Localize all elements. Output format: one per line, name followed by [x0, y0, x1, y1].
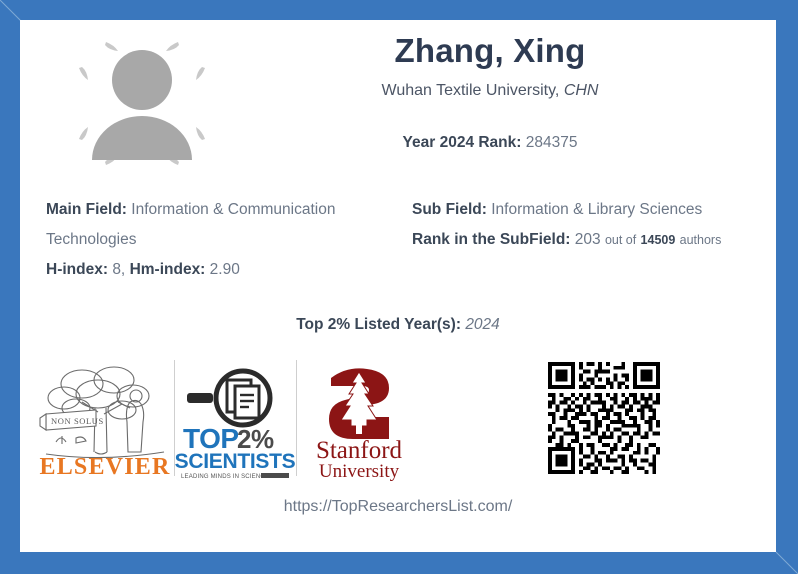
- index-row: H-index: 8, Hm-index: 2.90: [46, 255, 396, 285]
- hm-index-value: 2.90: [210, 261, 240, 278]
- affiliation-institution: Wuhan Textile University,: [382, 82, 560, 99]
- elsevier-wordmark: ELSEVIER: [40, 454, 171, 480]
- details-section: Main Field: Information & Communication …: [20, 195, 776, 330]
- site-url[interactable]: https://TopResearchersList.com/: [20, 498, 776, 516]
- details-left-column: Main Field: Information & Communication …: [46, 195, 396, 285]
- year-rank: Year 2024 Rank: 284375: [210, 132, 770, 154]
- top2-tagline: LEADING MINDS IN SCIENCE: [181, 474, 269, 480]
- subfield-rank-row: Rank in the SubField: 203 out of 14509 a…: [412, 225, 762, 255]
- elsevier-logo: NON SOLUS ELSEVIER: [38, 356, 173, 481]
- subfield-rank-total: 14509: [641, 233, 676, 247]
- stanford-wordmark-line2: University: [319, 461, 400, 481]
- h-index-label: H-index:: [46, 261, 108, 278]
- profile-card-frame: Zhang, Xing Wuhan Textile University, CH…: [0, 0, 798, 574]
- top-2-percent-label: Top 2% Listed Year(s):: [296, 316, 461, 333]
- logo-strip: NON SOLUS ELSEVIER: [38, 356, 778, 481]
- subfield-rank-suffix: authors: [680, 233, 722, 247]
- author-name: Zhang, Xing: [210, 28, 770, 74]
- author-identity: Zhang, Xing Wuhan Textile University, CH…: [210, 28, 770, 154]
- top2-word-scientists: SCIENTISTS: [175, 450, 295, 473]
- hm-index-label: Hm-index:: [130, 261, 206, 278]
- year-rank-label: Year 2024 Rank:: [403, 134, 522, 151]
- qr-code[interactable]: [548, 362, 660, 474]
- sub-field-value: Information & Library Sciences: [491, 201, 702, 218]
- subfield-rank-value: 203: [575, 231, 601, 248]
- top-2-percent-scientists-logo: TOP 2% SCIENTISTS LEADING MINDS IN SCIEN…: [175, 356, 295, 481]
- card-header: Zhang, Xing Wuhan Textile University, CH…: [20, 20, 776, 180]
- top-2-percent-years-row: Top 2% Listed Year(s): 2024: [20, 316, 776, 334]
- profile-card: Zhang, Xing Wuhan Textile University, CH…: [20, 20, 776, 552]
- year-rank-value: 284375: [526, 134, 578, 151]
- subfield-rank-label: Rank in the SubField:: [412, 231, 570, 248]
- top-2-percent-years: 2024: [465, 316, 499, 333]
- details-right-column: Sub Field: Information & Library Science…: [412, 195, 762, 255]
- stanford-university-logo: Stanford University: [297, 356, 422, 481]
- h-index-value: 8,: [112, 261, 125, 278]
- stanford-wordmark-line1: Stanford: [316, 437, 403, 464]
- avatar: [62, 26, 222, 181]
- sub-field-label: Sub Field:: [412, 201, 487, 218]
- main-field-row: Main Field: Information & Communication …: [46, 195, 396, 255]
- author-affiliation: Wuhan Textile University, CHN: [210, 78, 770, 104]
- person-placeholder-icon: [84, 48, 200, 160]
- subfield-rank-outof: out of: [605, 233, 636, 247]
- main-field-label: Main Field:: [46, 201, 127, 218]
- affiliation-country: CHN: [564, 82, 599, 99]
- svg-text:NON SOLUS: NON SOLUS: [51, 416, 104, 426]
- sub-field-row: Sub Field: Information & Library Science…: [412, 195, 762, 225]
